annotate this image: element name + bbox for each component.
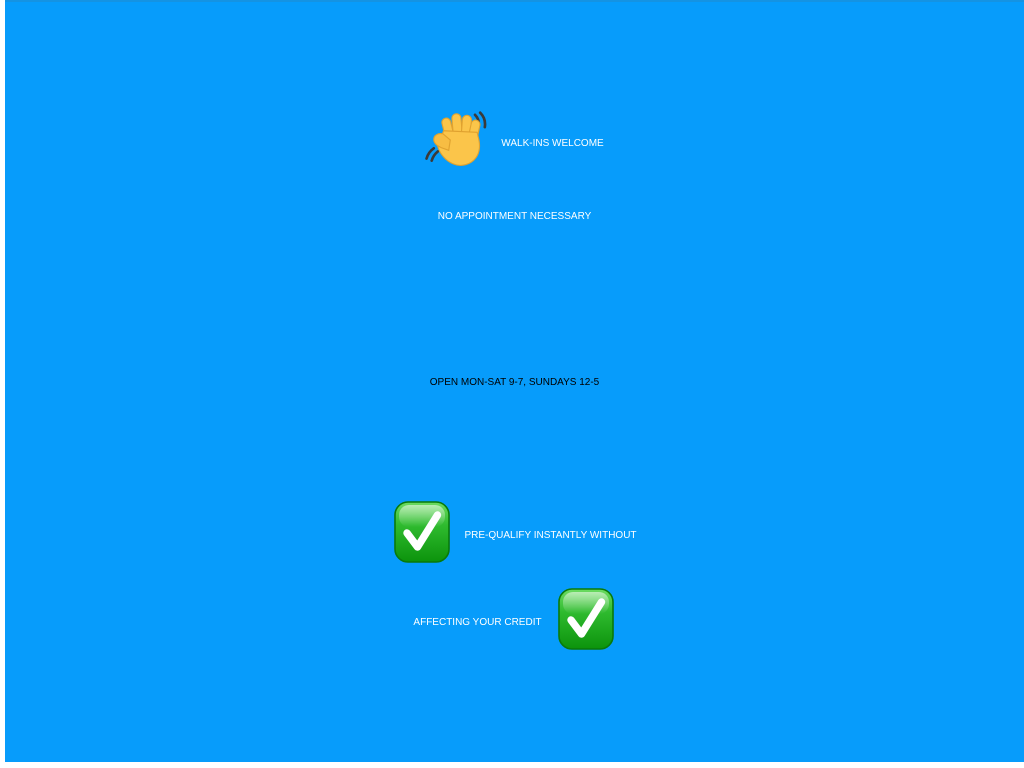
prequalify-text: PRE-QUALIFY INSTANTLY WITHOUT [464,530,636,541]
top-edge-divider [5,0,1024,2]
check-mark-button-icon [392,500,452,564]
prequalify-line: PRE-QUALIFY INSTANTLY WITHOUT [5,492,1024,580]
walkins-welcome-line: WALK-INS WELCOME [5,108,1024,180]
waving-hand-icon [425,106,491,172]
sign-canvas: WALK-INS WELCOME NO APPOINTMENT NECESSAR… [0,0,1024,768]
sign-background-panel: WALK-INS WELCOME NO APPOINTMENT NECESSAR… [5,0,1024,762]
walkins-welcome-text: WALK-INS WELCOME [501,138,603,149]
store-hours-text: OPEN MON-SAT 9-7, SUNDAYS 12-5 [430,377,600,388]
affecting-credit-text: AFFECTING YOUR CREDIT [413,617,541,628]
welcome-text-block: WALK-INS WELCOME NO APPOINTMENT NECESSAR… [5,108,1024,254]
no-appointment-text: NO APPOINTMENT NECESSARY [438,211,592,222]
check-mark-button-icon-trailing [556,587,616,651]
affecting-credit-line: AFFECTING YOUR CREDIT [5,580,1024,666]
store-hours-line: OPEN MON-SAT 9-7, SUNDAYS 12-5 [5,348,1024,418]
no-appointment-line: NO APPOINTMENT NECESSARY [5,180,1024,254]
hours-text-block: OPEN MON-SAT 9-7, SUNDAYS 12-5 [5,348,1024,418]
prequalify-text-block: PRE-QUALIFY INSTANTLY WITHOUT AFFECTING … [5,492,1024,666]
